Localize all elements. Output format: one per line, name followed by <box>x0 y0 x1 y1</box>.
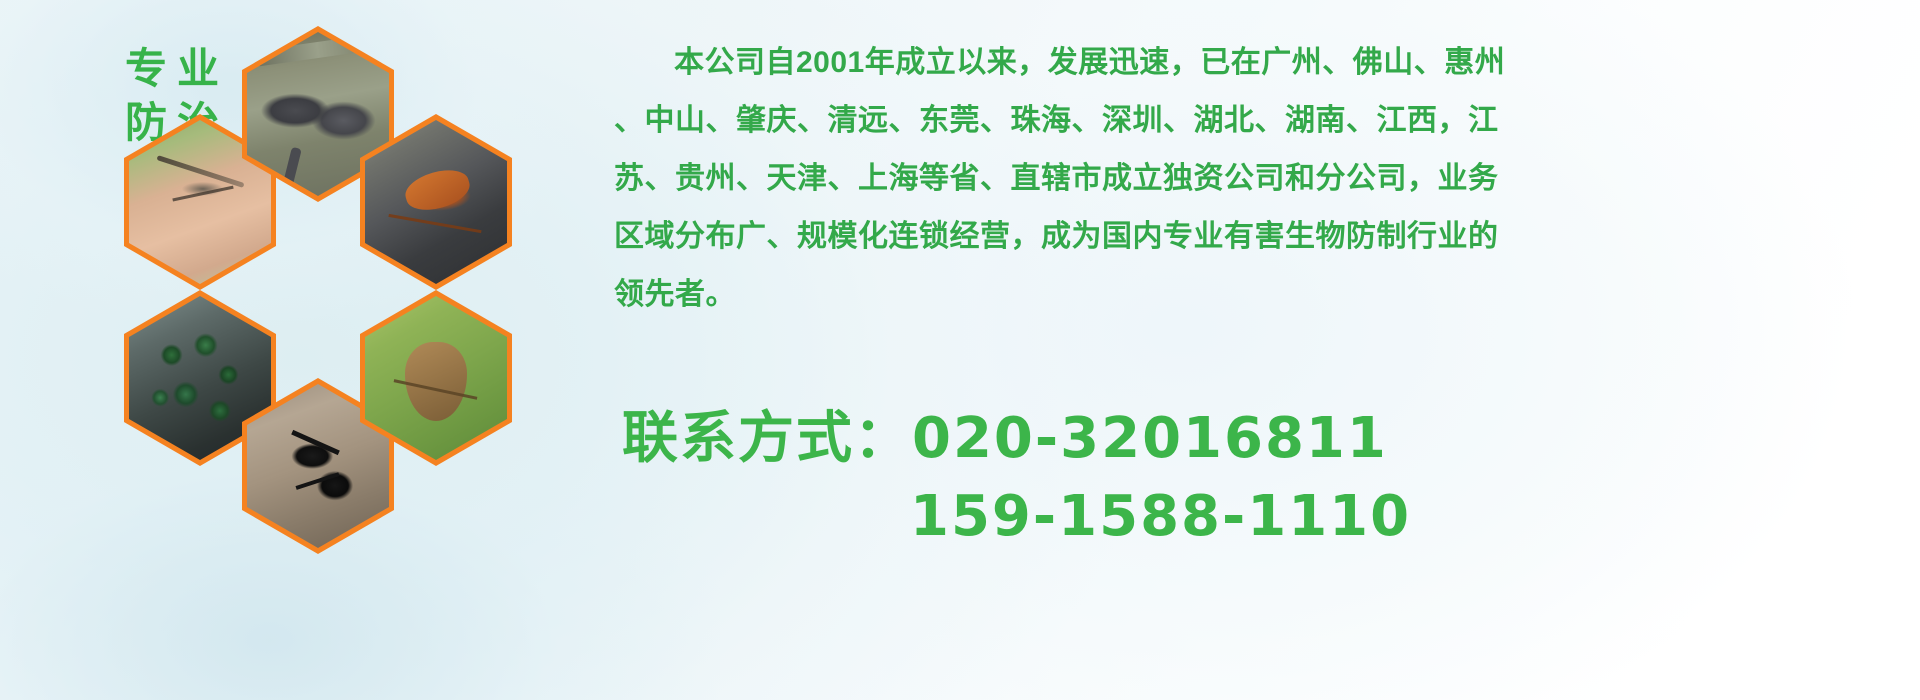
stinkbug-photo <box>365 296 507 460</box>
intro-line-5: 领先者。 <box>614 266 1904 324</box>
intro-line-1: 本公司自2001年成立以来，发展迅速，已在广州、佛山、惠州 <box>614 34 1904 92</box>
contact-line-primary[interactable]: 联系方式：020-32016811 <box>622 400 1902 478</box>
hex-inner-cockroach <box>365 120 507 284</box>
hexagon-logo-cluster: 专业 防治 <box>96 8 596 568</box>
cockroach-photo <box>365 120 507 284</box>
intro-paragraph: 本公司自2001年成立以来，发展迅速，已在广州、佛山、惠州 、中山、肇庆、清远、… <box>614 34 1904 324</box>
contact-line-secondary[interactable]: 159-1588-1110 <box>622 478 1902 556</box>
slogan-line-1: 专业 <box>115 47 229 91</box>
intro-line-3: 苏、贵州、天津、上海等省、直辖市成立独资公司和分公司，业务 <box>614 150 1904 208</box>
intro-line-4: 区域分布广、规模化连锁经营，成为国内专业有害生物防制行业的 <box>614 208 1904 266</box>
contact-info: 联系方式：020-32016811 159-1588-1110 <box>622 400 1902 556</box>
intro-line-2: 、中山、肇庆、清远、东莞、珠海、深圳、湖北、湖南、江西，江 <box>614 92 1904 150</box>
hex-inner-stinkbug <box>365 296 507 460</box>
promo-banner: 专业 防治 本公司自2001年成立以来，发展迅速，已在广州、佛山、惠州 、中山、… <box>0 0 1920 700</box>
